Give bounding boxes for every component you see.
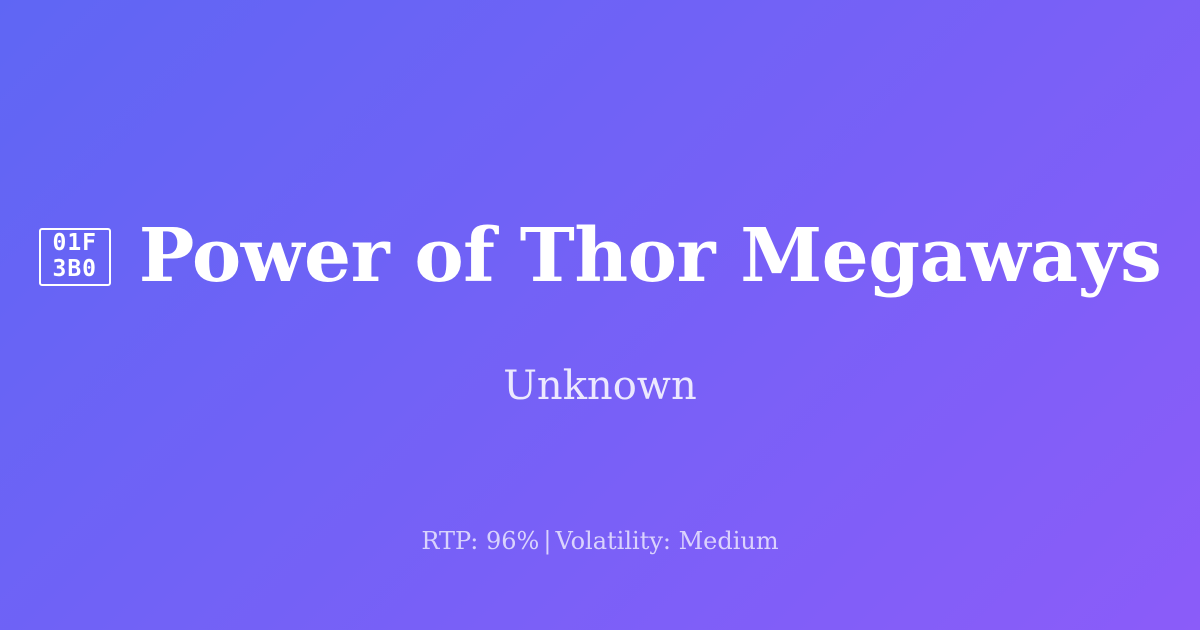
game-meta-line: RTP: 96%|Volatility: Medium (0, 526, 1200, 557)
tofu-codepoint-line-bottom: 3B0 (52, 257, 97, 283)
page-title: Power of Thor Megaways (139, 218, 1161, 296)
og-share-card: 01F 3B0 Power of Thor Megaways Unknown R… (0, 0, 1200, 630)
volatility-value: Volatility: Medium (555, 527, 778, 555)
slot-machine-icon: 01F 3B0 (39, 228, 111, 286)
rtp-value: RTP: 96% (421, 527, 539, 555)
title-row: 01F 3B0 Power of Thor Megaways (0, 218, 1200, 296)
page-subtitle: Unknown (0, 362, 1200, 410)
meta-separator: | (539, 527, 555, 555)
tofu-codepoint-line-top: 01F (52, 231, 97, 257)
